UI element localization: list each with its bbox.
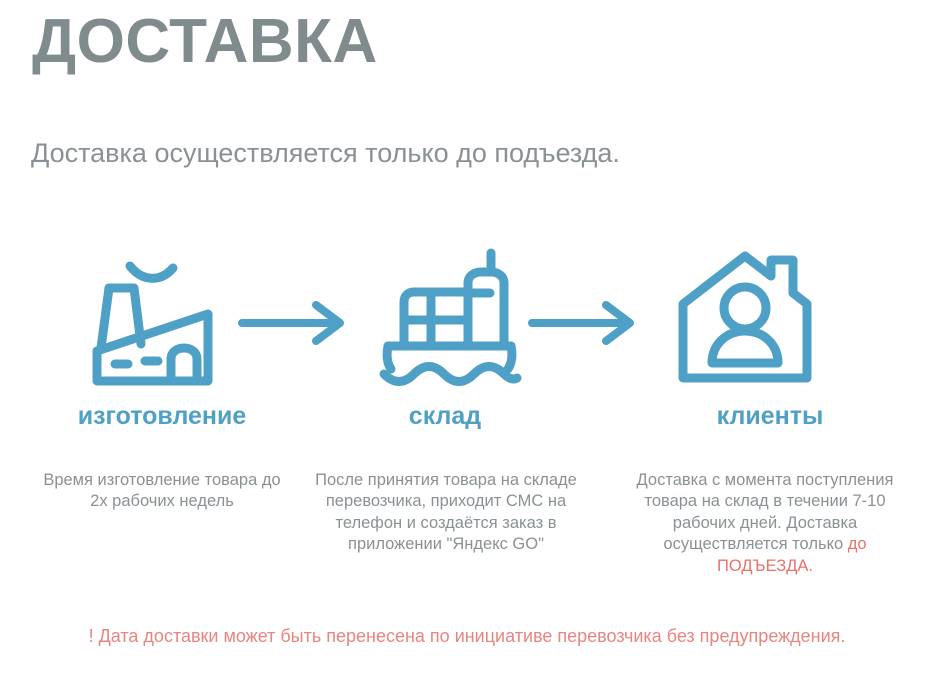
arrow-right-icon-1 — [240, 303, 370, 343]
flow-description-warehouse: После принятия товара на складе перевозч… — [305, 470, 587, 556]
flow-label-warehouse: склад — [305, 402, 585, 431]
flow-description-clients: Доставка с момента поступления товара на… — [620, 470, 910, 577]
process-flow-row — [0, 245, 934, 405]
cargo-ship-icon — [370, 245, 530, 395]
footer-warning-note: ! Дата доставки может быть перенесена по… — [50, 624, 884, 648]
page-title: ДОСТАВКА — [32, 8, 378, 76]
house-with-person-icon — [665, 245, 825, 395]
arrow-right-icon-2 — [530, 303, 660, 343]
flow-label-clients: клиенты — [620, 402, 920, 431]
delivery-infographic-slide: ДОСТАВКА Доставка осуществляется только … — [0, 0, 934, 700]
page-subtitle: Доставка осуществляется только до подъез… — [31, 134, 631, 172]
flow-label-manufacturing: изготовление — [22, 402, 302, 431]
factory-icon — [82, 245, 242, 395]
flow-labels-row: изготовление склад клиенты — [0, 402, 934, 442]
flow-description-manufacturing: Время изготовление товара до 2х рабочих … — [42, 470, 282, 513]
